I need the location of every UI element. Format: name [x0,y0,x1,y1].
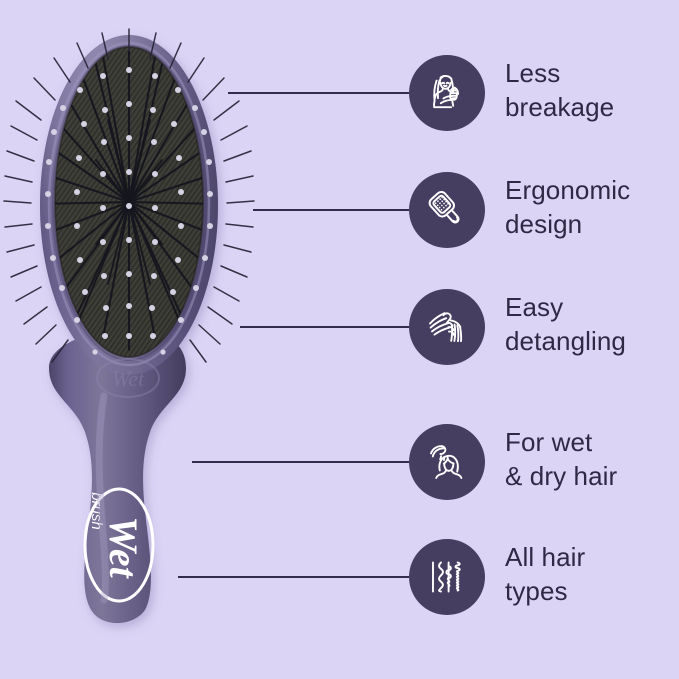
feature-label-all-hair-types: All hair types [505,540,675,608]
icon-circle-easy-detangling [409,289,485,365]
hair-textures-icon [424,554,470,600]
connector-line [228,92,409,94]
shower-head-wet-hair-icon [423,438,471,486]
feature-label-less-breakage: Less breakage [505,56,675,124]
icon-circle-for-wet-and-dry-hair [409,424,485,500]
hand-detangling-hair-icon [423,303,471,351]
connector-line [192,461,409,463]
icon-circle-all-hair-types [409,539,485,615]
feature-label-for-wet-and-dry-hair: For wet & dry hair [505,425,675,493]
feature-label-easy-detangling: Easy detangling [505,290,675,358]
icon-circle-less-breakage [409,55,485,131]
connector-line [253,209,409,211]
woman-brushing-hair-icon [423,69,471,117]
connector-line [178,576,409,578]
product-feature-infographic: Wet Wet brush [0,0,679,679]
paddle-brush-icon [424,187,470,233]
connector-line [240,326,409,328]
feature-list: Less breakage [0,0,679,679]
icon-circle-ergonomic-design [409,172,485,248]
feature-label-ergonomic-design: Ergonomic design [505,173,675,241]
